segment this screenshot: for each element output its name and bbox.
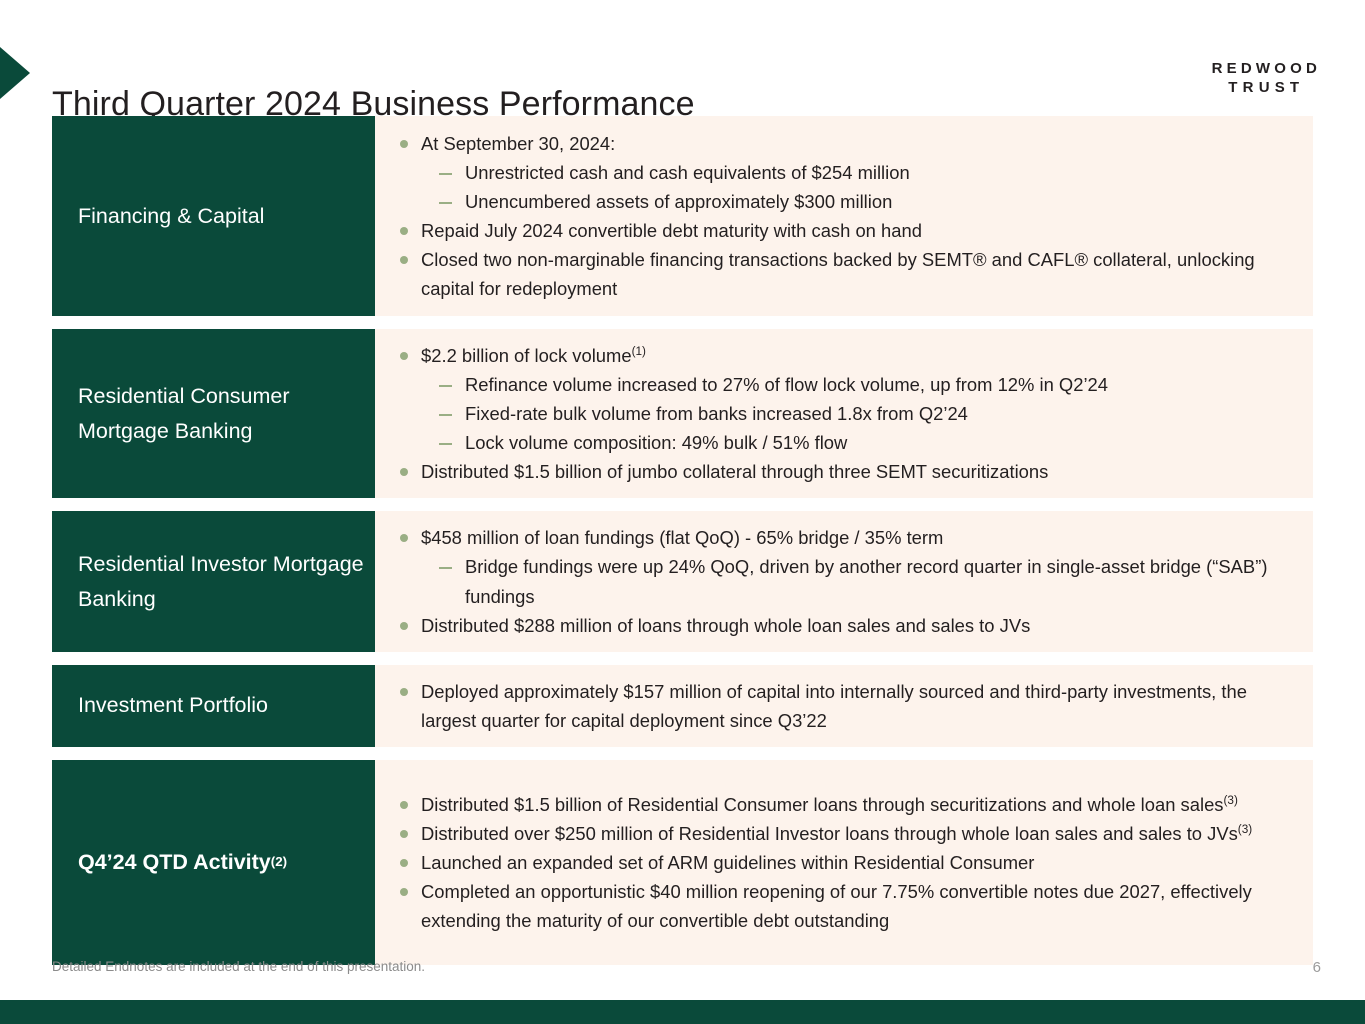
bullet-item: At September 30, 2024: [391,129,1299,158]
sub-bullet-item: Lock volume composition: 49% bulk / 51% … [391,428,1299,457]
row-content: $458 million of loan fundings (flat QoQ)… [375,511,1313,651]
table-row: Financing & CapitalAt September 30, 2024… [52,116,1313,316]
bullet-text: Repaid July 2024 convertible debt maturi… [421,220,922,241]
bullet-text: Unrestricted cash and cash equivalents o… [465,162,910,183]
bullet-item: Deployed approximately $157 million of c… [391,677,1299,735]
row-category-label-text: Q4’24 QTD Activity [78,845,271,880]
bullet-item: Completed an opportunistic $40 million r… [391,877,1299,935]
row-content: At September 30, 2024:Unrestricted cash … [375,116,1313,316]
bullet-text: Unencumbered assets of approximately $30… [465,191,892,212]
row-content: Distributed $1.5 billion of Residential … [375,760,1313,965]
bullet-item: Launched an expanded set of ARM guidelin… [391,848,1299,877]
sub-bullet-item: Fixed-rate bulk volume from banks increa… [391,399,1299,428]
table-row: Residential Investor Mortgage Banking$45… [52,511,1313,651]
bullet-text: $2.2 billion of lock volume [421,345,632,366]
bullet-text: At September 30, 2024: [421,133,615,154]
row-category-label: Financing & Capital [52,116,375,316]
row-content: Deployed approximately $157 million of c… [375,665,1313,747]
table-row: Residential Consumer Mortgage Banking$2.… [52,329,1313,498]
footnote-marker: (3) [1224,794,1238,807]
bullet-item: Distributed $1.5 billion of Residential … [391,790,1299,819]
sub-bullet-item: Bridge fundings were up 24% QoQ, driven … [391,552,1299,610]
row-category-label-text: Residential Consumer Mortgage Banking [78,379,375,449]
bullet-item: Distributed $1.5 billion of jumbo collat… [391,457,1299,486]
page-number: 6 [1313,959,1321,976]
bullet-text: Distributed $288 million of loans throug… [421,615,1030,636]
row-category-label: Q4’24 QTD Activity(2) [52,760,375,965]
sub-bullet-item: Unencumbered assets of approximately $30… [391,187,1299,216]
bullet-item: Closed two non-marginable financing tran… [391,245,1299,303]
table-row: Q4’24 QTD Activity(2)Distributed $1.5 bi… [52,760,1313,965]
bullet-text: Completed an opportunistic $40 million r… [421,881,1252,931]
bullet-item: Distributed over $250 million of Residen… [391,819,1299,848]
redwood-trust-logo: REDWOOD TRUST [1212,60,1321,98]
footnote-marker: (3) [1238,823,1252,836]
row-category-label-text: Investment Portfolio [78,688,268,723]
row-category-label-text: Financing & Capital [78,199,264,234]
row-category-label: Residential Investor Mortgage Banking [52,511,375,651]
business-performance-table: Financing & CapitalAt September 30, 2024… [52,116,1313,978]
bullet-text: Launched an expanded set of ARM guidelin… [421,852,1034,873]
bullet-item: Repaid July 2024 convertible debt maturi… [391,216,1299,245]
table-row: Investment PortfolioDeployed approximate… [52,665,1313,747]
footnote-marker: (1) [632,345,646,358]
bullet-item: $458 million of loan fundings (flat QoQ)… [391,523,1299,552]
sub-bullet-item: Unrestricted cash and cash equivalents o… [391,158,1299,187]
bullet-text: Lock volume composition: 49% bulk / 51% … [465,432,847,453]
footnote-text: Detailed Endnotes are included at the en… [52,959,425,974]
logo-line-1: REDWOOD [1212,60,1321,79]
bullet-text: Fixed-rate bulk volume from banks increa… [465,403,968,424]
sub-bullet-item: Refinance volume increased to 27% of flo… [391,370,1299,399]
row-category-label: Investment Portfolio [52,665,375,747]
bullet-text: Refinance volume increased to 27% of flo… [465,374,1108,395]
row-category-label: Residential Consumer Mortgage Banking [52,329,375,498]
bullet-text: Closed two non-marginable financing tran… [421,249,1255,299]
bullet-item: $2.2 billion of lock volume(1) [391,341,1299,370]
bullet-text: Distributed $1.5 billion of jumbo collat… [421,461,1048,482]
bottom-accent-bar [0,1000,1365,1024]
bullet-text: Distributed over $250 million of Residen… [421,823,1238,844]
decorative-arrow-icon [0,47,30,99]
row-content: $2.2 billion of lock volume(1)Refinance … [375,329,1313,498]
bullet-text: Bridge fundings were up 24% QoQ, driven … [465,556,1267,606]
bullet-text: Deployed approximately $157 million of c… [421,681,1247,731]
logo-line-2: TRUST [1212,79,1321,98]
bullet-text: $458 million of loan fundings (flat QoQ)… [421,527,943,548]
bullet-text: Distributed $1.5 billion of Residential … [421,794,1224,815]
row-category-label-text: Residential Investor Mortgage Banking [78,547,375,617]
bullet-item: Distributed $288 million of loans throug… [391,611,1299,640]
